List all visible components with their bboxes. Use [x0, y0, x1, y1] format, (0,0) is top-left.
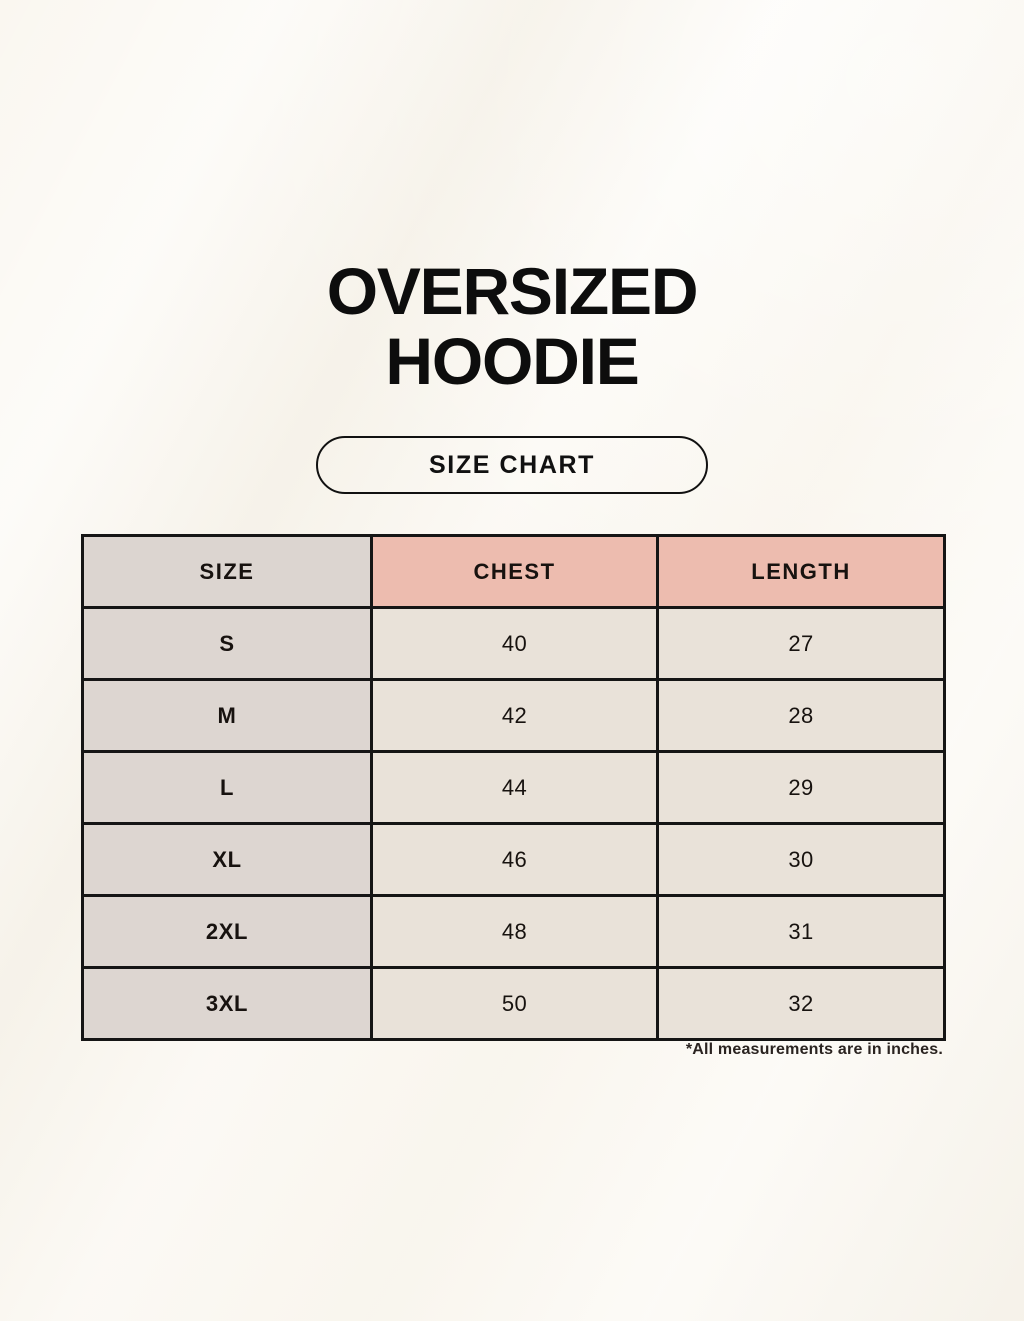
size-chart-page: OVERSIZED HOODIE SIZE CHART SIZE CHEST L…: [0, 0, 1024, 1321]
cell-length: 28: [658, 680, 945, 752]
cell-size: XL: [83, 824, 372, 896]
cell-chest: 48: [372, 896, 658, 968]
table-row: 3XL 50 32: [83, 968, 945, 1040]
cell-chest: 44: [372, 752, 658, 824]
page-title-line-1: OVERSIZED: [0, 258, 1024, 324]
table-row: XL 46 30: [83, 824, 945, 896]
table-row: M 42 28: [83, 680, 945, 752]
cell-chest: 42: [372, 680, 658, 752]
column-header-chest: CHEST: [372, 536, 658, 608]
size-chart-badge-label: SIZE CHART: [429, 451, 595, 480]
cell-size: S: [83, 608, 372, 680]
size-chart-badge: SIZE CHART: [316, 436, 708, 494]
table-row: 2XL 48 31: [83, 896, 945, 968]
cell-length: 27: [658, 608, 945, 680]
cell-chest: 50: [372, 968, 658, 1040]
page-title: OVERSIZED HOODIE: [0, 258, 1024, 394]
cell-size: 2XL: [83, 896, 372, 968]
cell-size: M: [83, 680, 372, 752]
table-header-row: SIZE CHEST LENGTH: [83, 536, 945, 608]
cell-length: 32: [658, 968, 945, 1040]
cell-length: 30: [658, 824, 945, 896]
cell-length: 29: [658, 752, 945, 824]
column-header-size: SIZE: [83, 536, 372, 608]
cell-size: L: [83, 752, 372, 824]
cell-chest: 46: [372, 824, 658, 896]
table-header: SIZE CHEST LENGTH: [83, 536, 945, 608]
measurements-footnote: *All measurements are in inches.: [81, 1041, 943, 1059]
column-header-length: LENGTH: [658, 536, 945, 608]
cell-chest: 40: [372, 608, 658, 680]
size-chart-table: SIZE CHEST LENGTH S 40 27 M 42 28 L 44 2…: [81, 534, 946, 1041]
table-row: L 44 29: [83, 752, 945, 824]
table-body: S 40 27 M 42 28 L 44 29 XL 46 30 2XL 48: [83, 608, 945, 1040]
cell-length: 31: [658, 896, 945, 968]
table-row: S 40 27: [83, 608, 945, 680]
page-title-line-2: HOODIE: [0, 328, 1024, 394]
cell-size: 3XL: [83, 968, 372, 1040]
